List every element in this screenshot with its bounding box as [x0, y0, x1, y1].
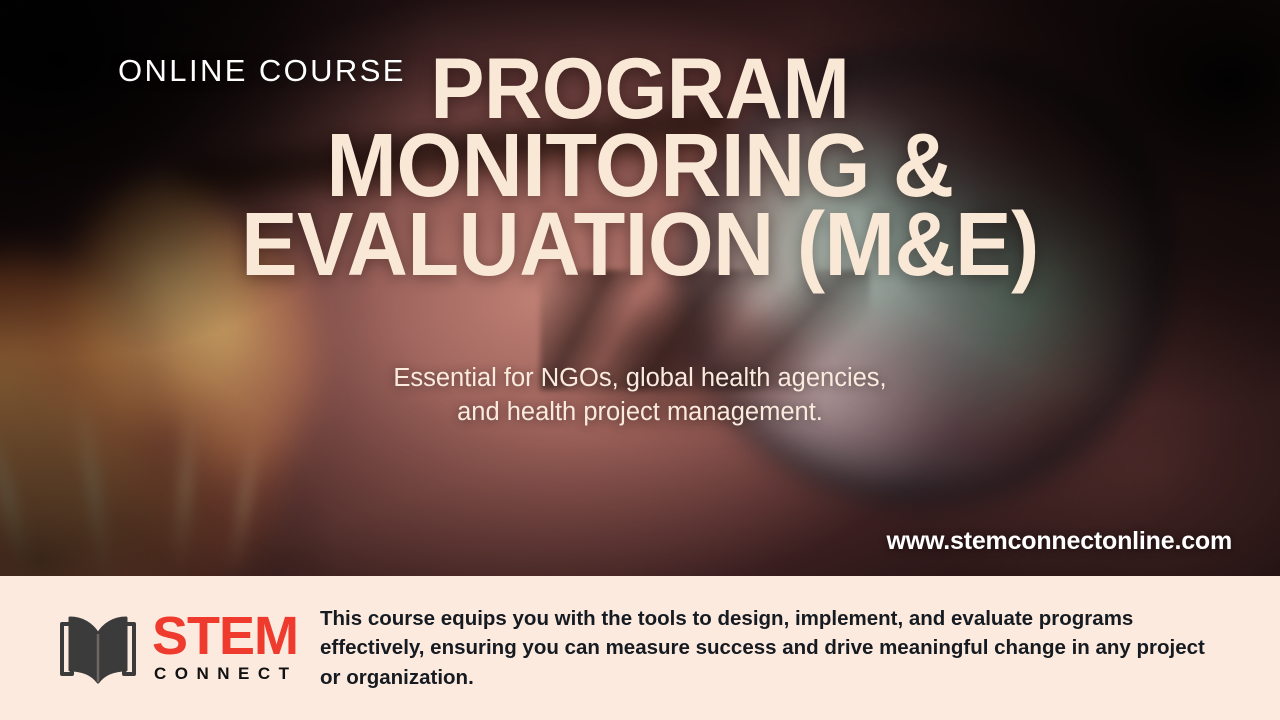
- open-book-icon: [56, 610, 140, 686]
- course-promo-poster: ONLINE COURSE PROGRAM MONITORING & EVALU…: [0, 0, 1280, 720]
- brand-name-connect: CONNECT: [154, 664, 298, 684]
- brand-wordmark: STEM CONNECT: [152, 612, 298, 684]
- brand-logo[interactable]: STEM CONNECT: [56, 610, 298, 686]
- subtitle-text: Essential for NGOs, global health agenci…: [390, 362, 890, 430]
- website-url[interactable]: www.stemconnectonline.com: [886, 527, 1232, 556]
- headline-line-3: EVALUATION (M&E): [38, 206, 1241, 285]
- page-title: PROGRAM MONITORING & EVALUATION (M&E): [0, 52, 1280, 285]
- brand-name-stem: STEM: [152, 612, 298, 662]
- hero-photo-background: ONLINE COURSE PROGRAM MONITORING & EVALU…: [0, 0, 1280, 576]
- course-description: This course equips you with the tools to…: [320, 604, 1228, 691]
- footer-bar: STEM CONNECT This course equips you with…: [0, 576, 1280, 720]
